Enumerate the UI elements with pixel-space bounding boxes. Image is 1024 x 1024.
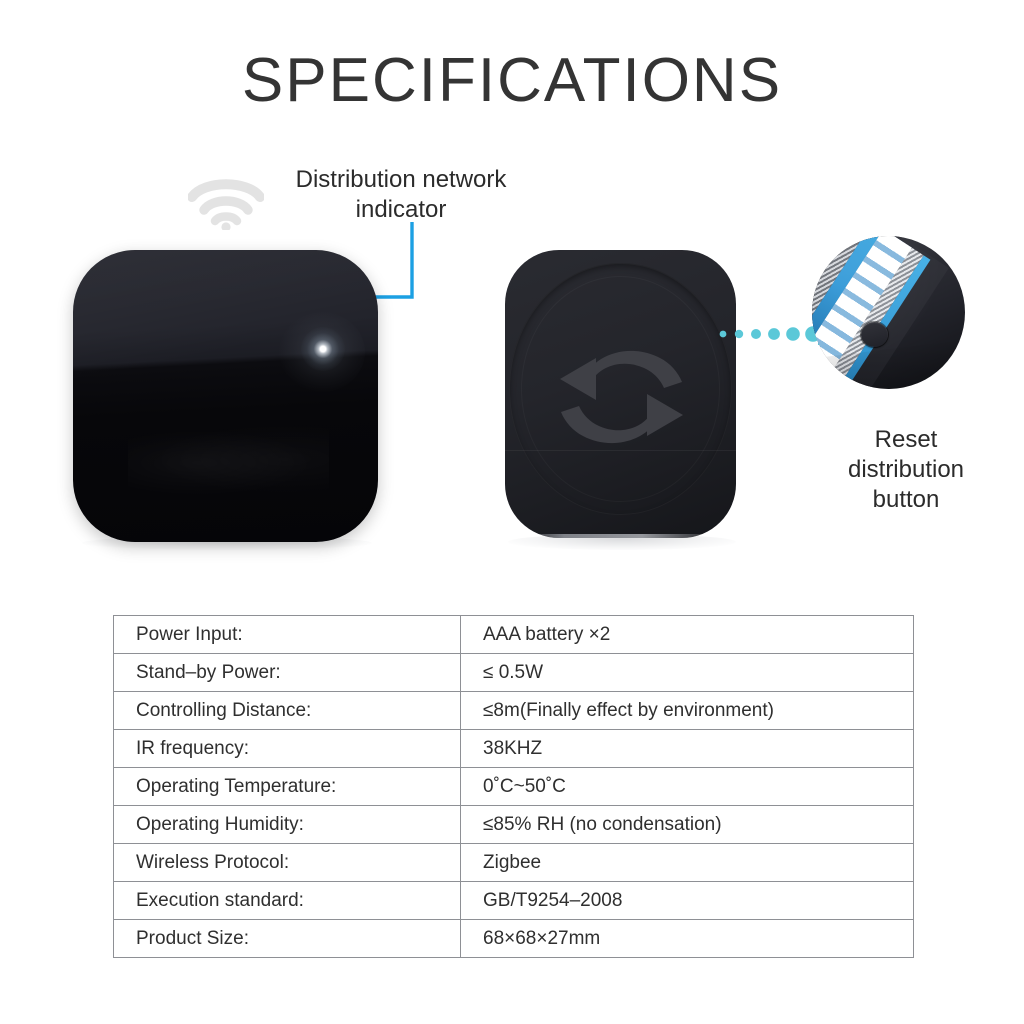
spec-value: 38KHZ (461, 730, 914, 768)
table-row: Operating Temperature:0˚C~50˚C (114, 768, 914, 806)
spec-value: 68×68×27mm (461, 920, 914, 958)
reset-button-zoom-inset (812, 236, 965, 389)
device-front (73, 250, 378, 542)
table-row: Wireless Protocol:Zigbee (114, 844, 914, 882)
table-row: Product Size:68×68×27mm (114, 920, 914, 958)
device-reflection-ghost (128, 425, 329, 501)
spec-value: ≤8m(Finally effect by environment) (461, 692, 914, 730)
distribution-network-indicator-led (301, 327, 345, 371)
specifications-table: Power Input:AAA battery ×2Stand–by Power… (113, 615, 914, 958)
table-row: Power Input:AAA battery ×2 (114, 616, 914, 654)
table-row: IR frequency:38KHZ (114, 730, 914, 768)
reset-distribution-button[interactable] (861, 322, 888, 347)
callout-label-reset-distribution-button: Reset distribution button (798, 425, 1014, 515)
spec-label: Stand–by Power: (114, 654, 461, 692)
callout-line-2: indicator (252, 195, 550, 225)
spec-value: 0˚C~50˚C (461, 768, 914, 806)
refresh-cycle-arrows-icon (552, 332, 691, 460)
callout-line-1: Distribution network (252, 165, 550, 195)
spec-label: Product Size: (114, 920, 461, 958)
callout-line-2: distribution (798, 455, 1014, 485)
spec-value: Zigbee (461, 844, 914, 882)
spec-label: Controlling Distance: (114, 692, 461, 730)
table-row: Stand–by Power:≤ 0.5W (114, 654, 914, 692)
spec-label: Operating Humidity: (114, 806, 461, 844)
callout-line-3: button (798, 485, 1014, 515)
table-row: Execution standard:GB/T9254–2008 (114, 882, 914, 920)
spec-label: Power Input: (114, 616, 461, 654)
specifications-table-body: Power Input:AAA battery ×2Stand–by Power… (114, 616, 914, 958)
spec-label: Operating Temperature: (114, 768, 461, 806)
table-row: Controlling Distance:≤8m(Finally effect … (114, 692, 914, 730)
callout-line-1: Reset (798, 425, 1014, 455)
spec-label: IR frequency: (114, 730, 461, 768)
spec-value: ≤ 0.5W (461, 654, 914, 692)
device-back (505, 250, 736, 538)
spec-label: Wireless Protocol: (114, 844, 461, 882)
table-row: Operating Humidity:≤85% RH (no condensat… (114, 806, 914, 844)
spec-label: Execution standard: (114, 882, 461, 920)
spec-value: ≤85% RH (no condensation) (461, 806, 914, 844)
spec-value: GB/T9254–2008 (461, 882, 914, 920)
callout-label-distribution-network-indicator: Distribution network indicator (252, 165, 550, 225)
specifications-page: SPECIFICATIONS Distribution network indi… (0, 0, 1024, 1024)
spec-value: AAA battery ×2 (461, 616, 914, 654)
page-title: SPECIFICATIONS (0, 46, 1024, 116)
